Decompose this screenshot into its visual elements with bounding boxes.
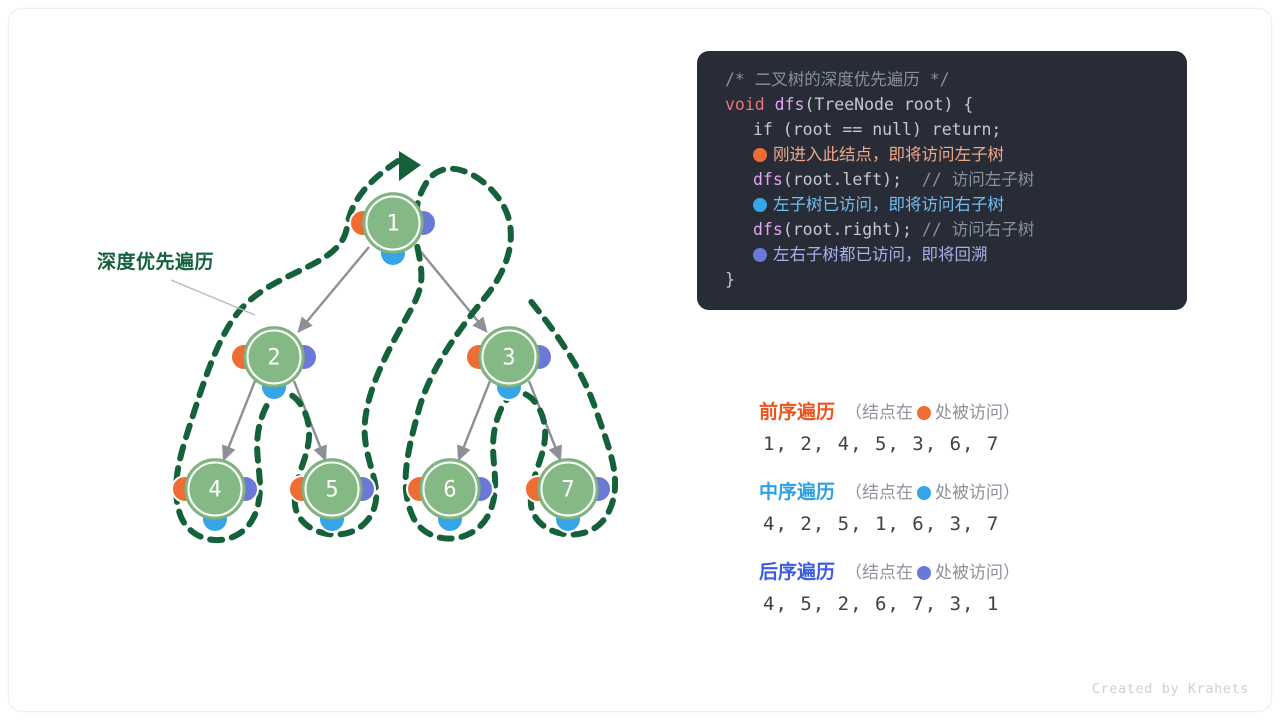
result-heading-preorder: 前序遍历（结点在处被访问） bbox=[759, 397, 1179, 424]
edge-3-6 bbox=[459, 381, 490, 459]
code-token: // 访问左子树 bbox=[922, 170, 1034, 189]
node-value-label: 3 bbox=[502, 346, 515, 371]
code-token: 左右子树都已访问，即将回溯 bbox=[773, 245, 988, 264]
dfs-annotation-label: 深度优先遍历 bbox=[97, 247, 214, 274]
code-token: (root.left); bbox=[783, 170, 922, 189]
code-token: dfs bbox=[753, 170, 783, 189]
blue-dot-icon bbox=[917, 486, 931, 500]
node-value-label: 2 bbox=[267, 346, 280, 371]
result-hint: （结点在处被访问） bbox=[845, 563, 1020, 582]
code-token: (TreeNode root) { bbox=[804, 95, 973, 114]
result-sequence-inorder: 4, 2, 5, 1, 6, 3, 7 bbox=[763, 513, 1179, 535]
tree-nodes: 1234567 bbox=[172, 193, 611, 532]
code-line: dfs(root.right); // 访问右子树 bbox=[697, 217, 1187, 242]
node-value-label: 7 bbox=[561, 478, 574, 503]
node-value-label: 4 bbox=[208, 478, 221, 503]
node-value-label: 6 bbox=[443, 478, 456, 503]
result-title: 前序遍历 bbox=[759, 402, 835, 423]
code-token: dfs bbox=[753, 220, 783, 239]
credit-label: Created by Krahets bbox=[1092, 681, 1249, 697]
result-title: 中序遍历 bbox=[759, 482, 835, 503]
traversal-results: 前序遍历（结点在处被访问）1, 2, 4, 5, 3, 6, 7中序遍历（结点在… bbox=[759, 397, 1179, 637]
orange-dot-icon bbox=[753, 148, 767, 162]
result-hint: （结点在处被访问） bbox=[845, 403, 1020, 422]
code-line: /* 二叉树的深度优先遍历 */ bbox=[697, 67, 1187, 92]
code-line: 左子树已访问，即将访问右子树 bbox=[697, 192, 1187, 217]
result-title: 后序遍历 bbox=[759, 562, 835, 583]
blue-dot-icon bbox=[753, 198, 767, 212]
result-heading-inorder: 中序遍历（结点在处被访问） bbox=[759, 477, 1179, 504]
code-line: 左右子树都已访问，即将回溯 bbox=[697, 242, 1187, 267]
code-token: (root.right); bbox=[783, 220, 922, 239]
result-sequence-preorder: 1, 2, 4, 5, 3, 6, 7 bbox=[763, 433, 1179, 455]
result-sequence-postorder: 4, 5, 2, 6, 7, 3, 1 bbox=[763, 593, 1179, 615]
code-token: 刚进入此结点，即将访问左子树 bbox=[773, 145, 1004, 164]
code-token: if (root == null) return; bbox=[753, 120, 1001, 139]
binary-tree-diagram: 1234567 bbox=[9, 9, 689, 712]
tree-node-2[interactable]: 2 bbox=[231, 327, 317, 400]
code-token: void bbox=[725, 95, 775, 114]
code-token: dfs bbox=[775, 95, 805, 114]
code-line: dfs(root.left); // 访问左子树 bbox=[697, 167, 1187, 192]
node-value-label: 5 bbox=[325, 478, 338, 503]
edge-1-2 bbox=[299, 247, 369, 331]
code-token: } bbox=[725, 270, 735, 289]
result-hint: （结点在处被访问） bbox=[845, 483, 1020, 502]
indigo-dot-icon bbox=[753, 248, 767, 262]
code-token: /* 二叉树的深度优先遍历 */ bbox=[725, 70, 950, 89]
code-block: /* 二叉树的深度优先遍历 */void dfs(TreeNode root) … bbox=[697, 51, 1187, 310]
code-token: // 访问右子树 bbox=[922, 220, 1034, 239]
orange-dot-icon bbox=[917, 406, 931, 420]
code-line: if (root == null) return; bbox=[697, 117, 1187, 142]
annotation-leader-line bbox=[171, 280, 255, 315]
tree-node-6[interactable]: 6 bbox=[407, 459, 493, 532]
start-play-triangle-icon bbox=[399, 151, 421, 181]
edge-1-3 bbox=[417, 247, 486, 331]
node-value-label: 1 bbox=[386, 212, 399, 237]
result-heading-postorder: 后序遍历（结点在处被访问） bbox=[759, 557, 1179, 584]
tree-node-3[interactable]: 3 bbox=[466, 327, 552, 400]
code-token: 左子树已访问，即将访问右子树 bbox=[773, 195, 1004, 214]
code-line: 刚进入此结点，即将访问左子树 bbox=[697, 142, 1187, 167]
code-line: void dfs(TreeNode root) { bbox=[697, 92, 1187, 117]
indigo-dot-icon bbox=[917, 566, 931, 580]
code-line: } bbox=[697, 267, 1187, 292]
edge-2-4 bbox=[224, 381, 255, 459]
diagram-card: 1234567 深度优先遍历 /* 二叉树的深度优先遍历 */void dfs(… bbox=[8, 8, 1272, 712]
